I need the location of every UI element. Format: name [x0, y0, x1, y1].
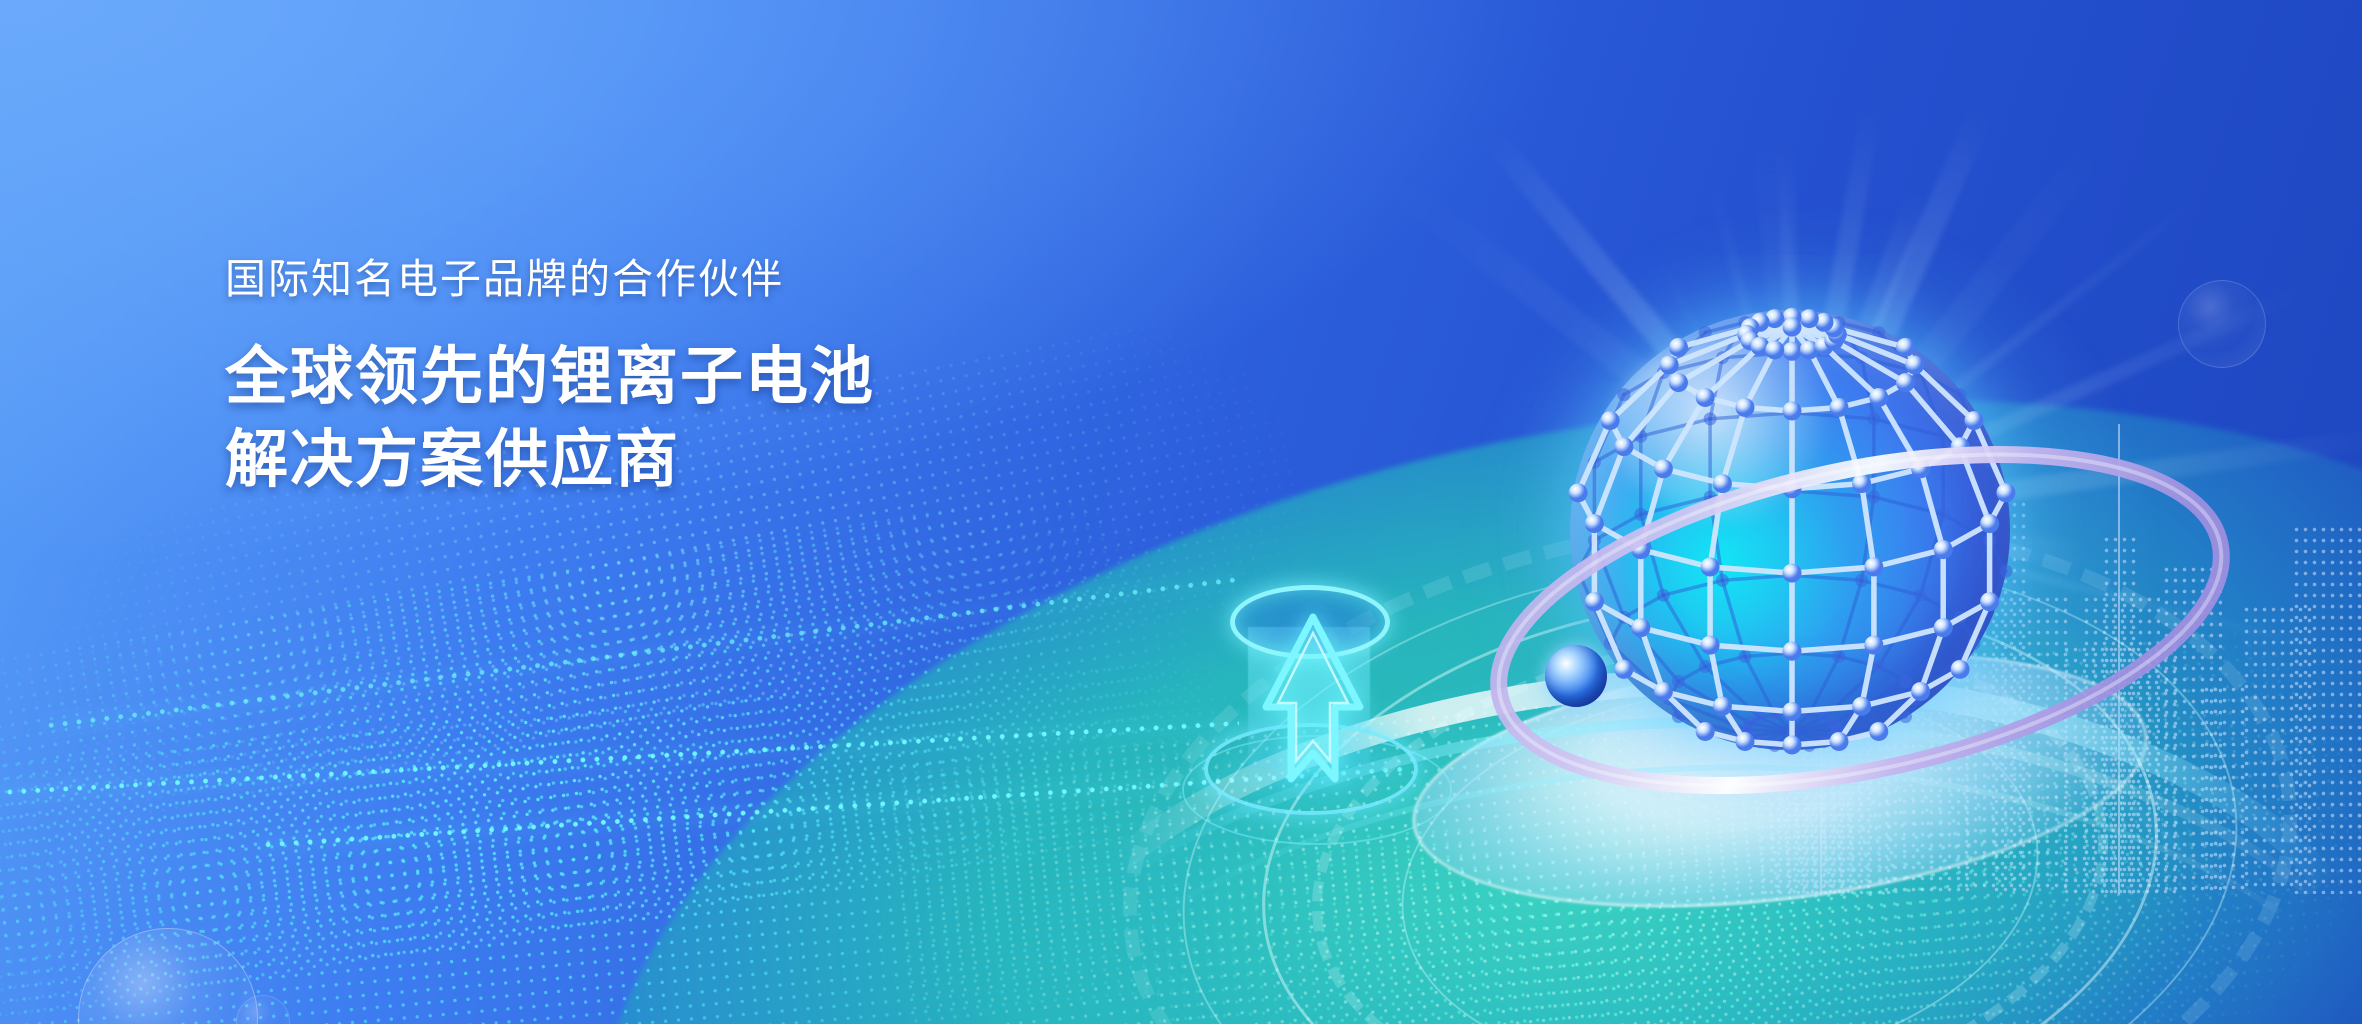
hero-eyebrow: 国际知名电子品牌的合作伙伴	[225, 255, 875, 304]
orbit-bead	[1545, 645, 1607, 707]
hero-banner: 国际知名电子品牌的合作伙伴 全球领先的锂离子电池 解决方案供应商	[0, 0, 2362, 1024]
upload-cylinder	[1190, 575, 1460, 820]
bubble-small-left	[236, 995, 290, 1024]
hero-headline-line-1: 全球领先的锂离子电池	[225, 336, 875, 419]
bubble-bottom-left	[78, 928, 258, 1024]
hero-copy: 国际知名电子品牌的合作伙伴 全球领先的锂离子电池 解决方案供应商	[225, 255, 875, 503]
hero-headline: 全球领先的锂离子电池 解决方案供应商	[225, 336, 875, 502]
network-globe	[1540, 300, 2080, 860]
up-arrow-icon	[1238, 603, 1388, 793]
globe-wireframe	[1552, 292, 2032, 772]
hero-headline-line-2: 解决方案供应商	[225, 419, 875, 502]
